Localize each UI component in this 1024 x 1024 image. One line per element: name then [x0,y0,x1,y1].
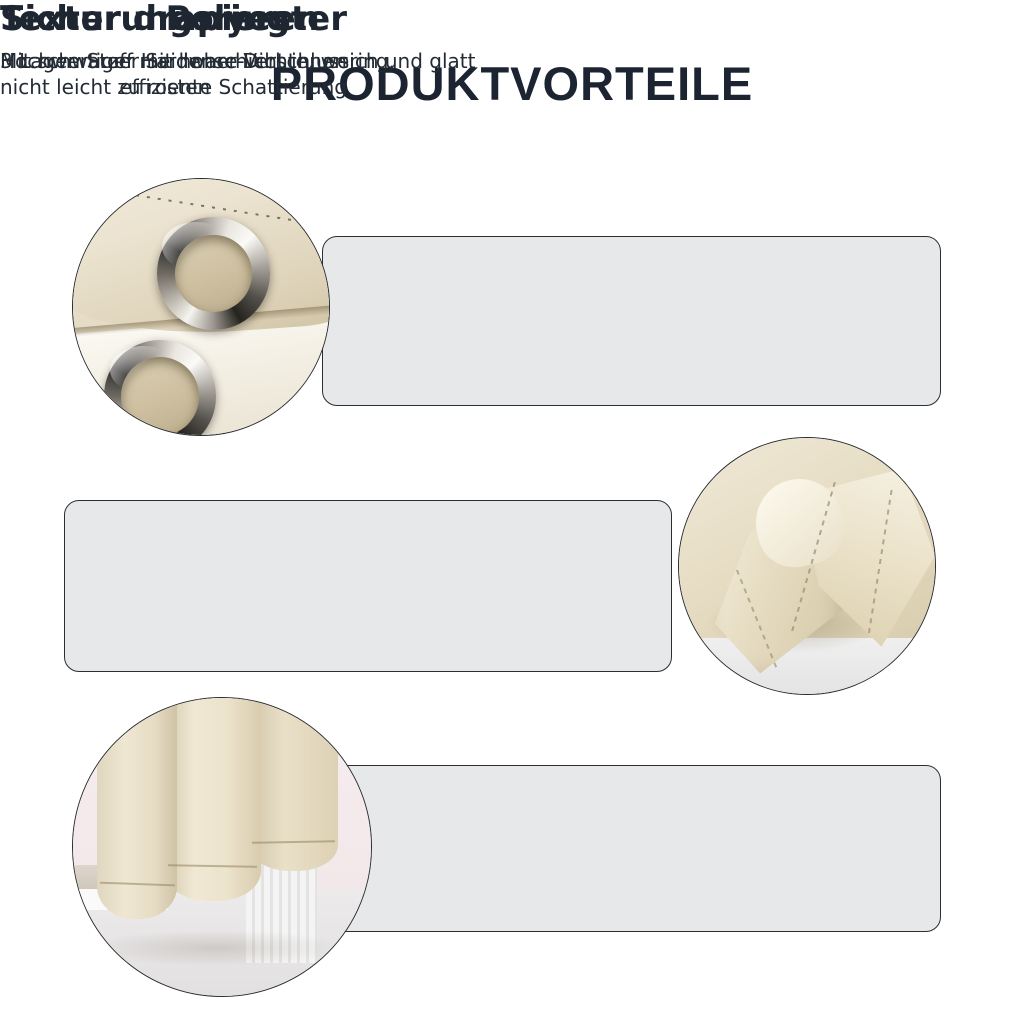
grommet-ring-highlight [110,346,175,393]
feature-card-3 [322,765,941,932]
feature-card-2 [64,500,672,672]
feature-card-3-text: Textur drapieren 3 Lagen Stoff mit hoher… [0,0,475,74]
infographic-canvas: PRODUKTVORTEILE Sicherungsring Hochwerti… [0,0,1024,1024]
feature-1-image-grommet [72,178,330,436]
grommet-ring-upper [157,217,270,330]
feature-2-body-line-2: effiziente Schattierung [0,74,347,100]
feature-3-image-drape [72,697,372,997]
grommet-ring-highlight [162,222,230,272]
feature-3-body: 3 Lagen Stoff mit hoher Dichte, weich un… [0,48,475,74]
feature-3-body-line-1: 3 Lagen Stoff mit hoher Dichte, weich un… [0,48,475,74]
curtain-panel-back [249,697,338,871]
feature-card-1 [322,236,941,406]
feature-3-heading: Textur drapieren [0,0,320,38]
curtain-floor-shadow [91,930,341,966]
curtain-panel-middle [165,697,260,901]
feature-2-image-polyester [678,437,936,695]
